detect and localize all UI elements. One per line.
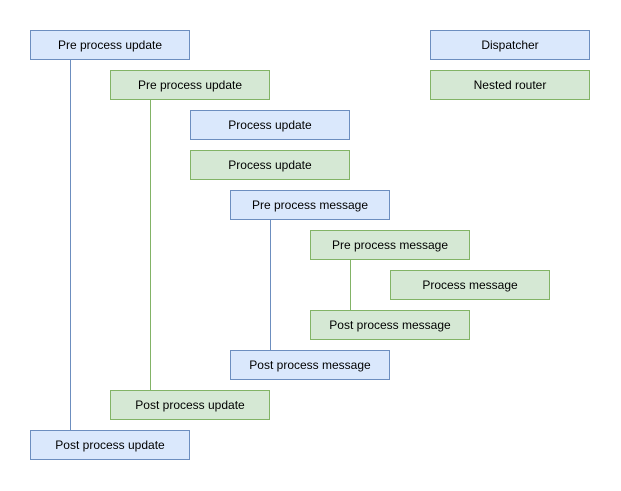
node-label: Post process message (329, 318, 450, 332)
node-label: Pre process message (252, 198, 368, 212)
legend-item-dispatcher[interactable]: Dispatcher (430, 30, 590, 60)
node-pre-process-message-5[interactable]: Pre process message (230, 190, 390, 220)
node-post-process-message-8[interactable]: Post process message (310, 310, 470, 340)
legend-item-label: Dispatcher (481, 38, 538, 52)
node-label: Process update (228, 158, 311, 172)
diagram-canvas: Pre process updatePre process updateProc… (0, 0, 621, 491)
node-label: Pre process message (332, 238, 448, 252)
node-pre-process-update-2[interactable]: Pre process update (110, 70, 270, 100)
connector-line-4 (350, 260, 351, 310)
node-label: Post process update (55, 438, 164, 452)
node-label: Process message (422, 278, 517, 292)
node-pre-process-message-6[interactable]: Pre process message (310, 230, 470, 260)
node-process-update-4[interactable]: Process update (190, 150, 350, 180)
node-label: Process update (228, 118, 311, 132)
node-label: Post process message (249, 358, 370, 372)
node-label: Pre process update (138, 78, 242, 92)
connector-line-1 (70, 60, 71, 430)
legend-item-label: Nested router (474, 78, 547, 92)
legend-item-nested-router[interactable]: Nested router (430, 70, 590, 100)
node-process-update-3[interactable]: Process update (190, 110, 350, 140)
connector-line-3 (270, 220, 271, 350)
connector-line-2 (150, 100, 151, 390)
node-pre-process-update-1[interactable]: Pre process update (30, 30, 190, 60)
node-process-message-7[interactable]: Process message (390, 270, 550, 300)
node-post-process-message-9[interactable]: Post process message (230, 350, 390, 380)
node-post-process-update-11[interactable]: Post process update (30, 430, 190, 460)
node-label: Pre process update (58, 38, 162, 52)
node-label: Post process update (135, 398, 244, 412)
node-post-process-update-10[interactable]: Post process update (110, 390, 270, 420)
